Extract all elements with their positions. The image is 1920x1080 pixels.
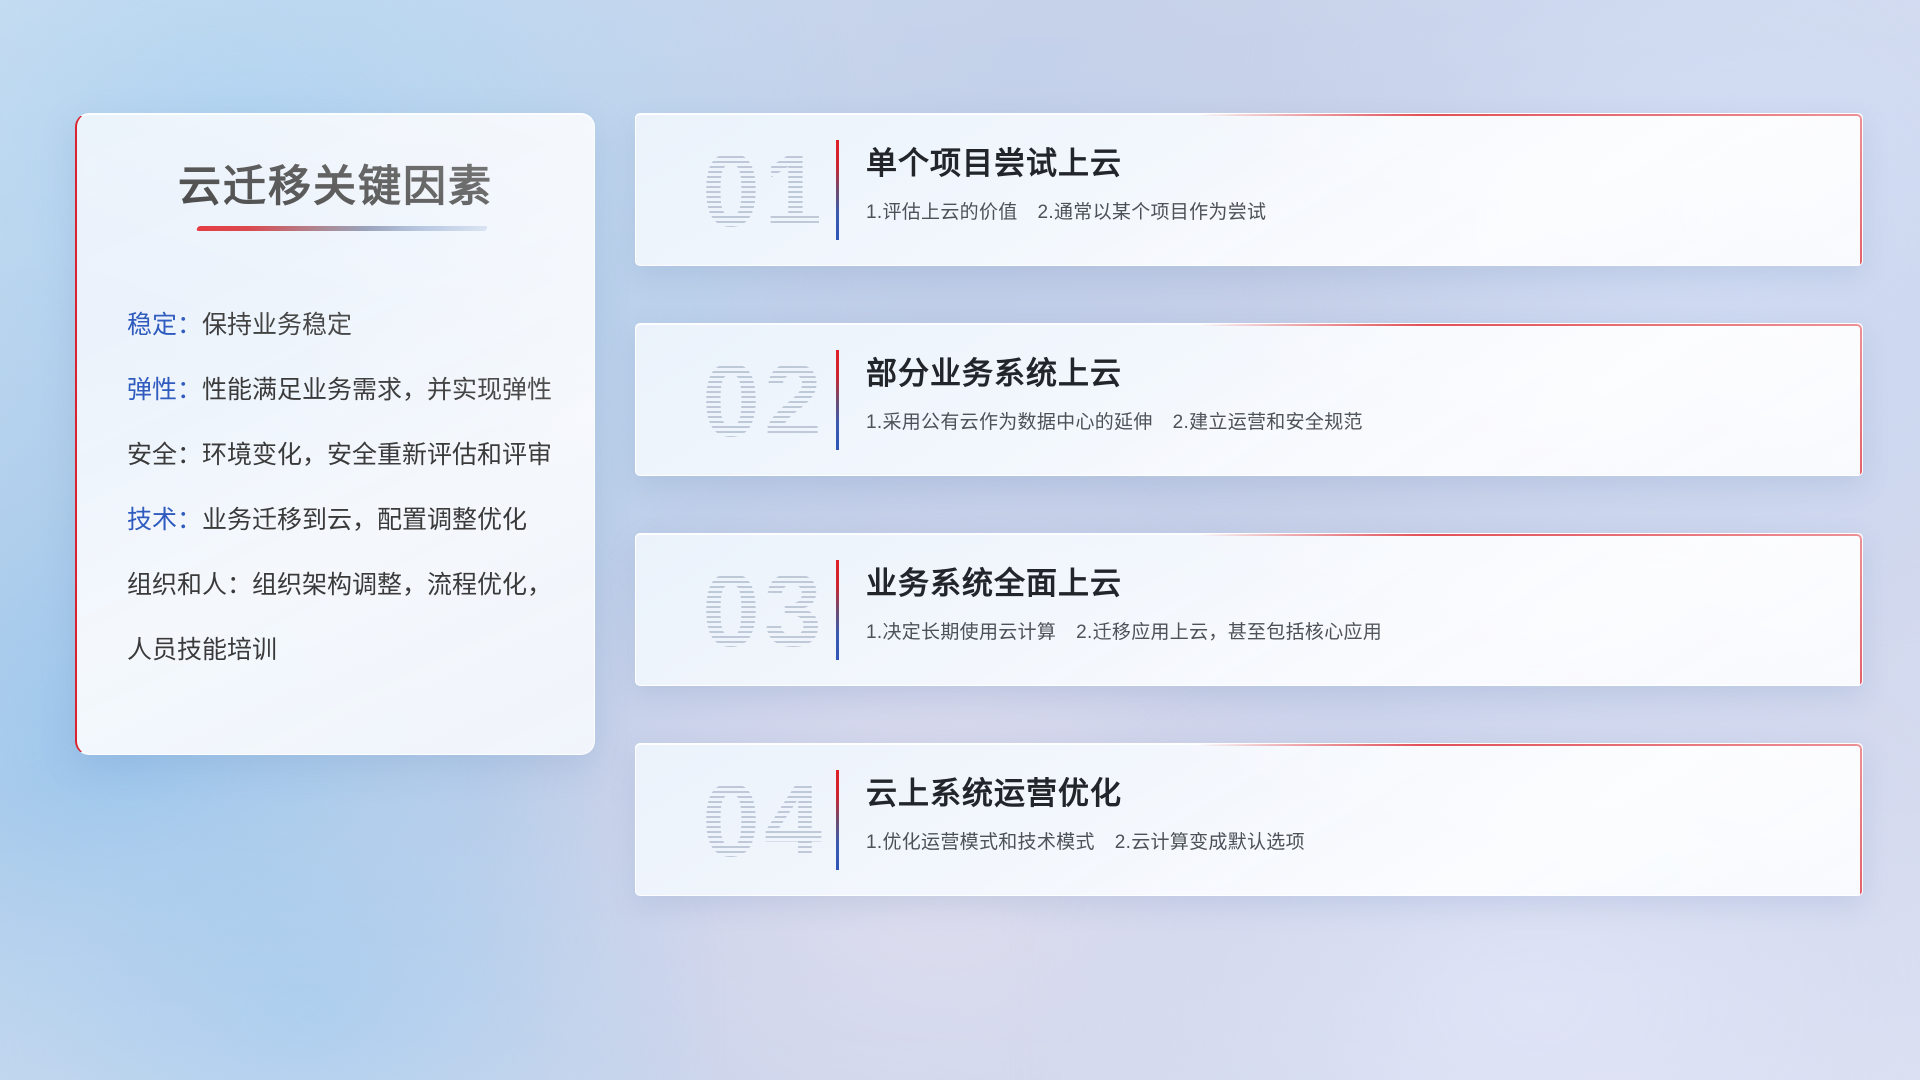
stage-card[interactable]: 01单个项目尝试上云1.评估上云的价值2.通常以某个项目作为尝试: [635, 113, 1863, 266]
stage-point-2: 2.建立运营和安全规范: [1173, 412, 1363, 433]
stage-card[interactable]: 04云上系统运营优化1.优化运营模式和技术模式2.云计算变成默认选项: [635, 743, 1863, 896]
key-factors-panel: 云迁移关键因素 稳定：保持业务稳定弹性：性能满足业务需求，并实现弹性安全：环境变…: [75, 113, 595, 755]
stage-title: 业务系统全面上云: [866, 558, 1832, 603]
stage-title: 部分业务系统上云: [866, 348, 1832, 393]
stage-divider-accent: [836, 560, 839, 660]
stage-number-watermark: 03: [664, 546, 864, 676]
stage-point-1: 1.决定长期使用云计算: [866, 622, 1056, 643]
factor-value: 业务迁移到云，配置调整优化: [202, 506, 527, 534]
factor-row: 组织和人：组织架构调整，流程优化，: [127, 569, 566, 601]
factor-row: 技术：业务迁移到云，配置调整优化: [127, 504, 566, 536]
migration-stage-list: 01单个项目尝试上云1.评估上云的价值2.通常以某个项目作为尝试02部分业务系统…: [635, 113, 1863, 953]
stage-divider-accent: [836, 350, 839, 450]
stage-title: 单个项目尝试上云: [866, 138, 1832, 183]
stage-point-2: 2.通常以某个项目作为尝试: [1038, 202, 1267, 223]
stage-point-2: 2.迁移应用上云，甚至包括核心应用: [1076, 622, 1382, 643]
factor-value: 环境变化，安全重新评估和评审: [202, 441, 552, 469]
factor-value: 保持业务稳定: [202, 311, 352, 339]
stage-subtitle: 1.决定长期使用云计算2.迁移应用上云，甚至包括核心应用: [866, 617, 1832, 644]
stage-subtitle: 1.优化运营模式和技术模式2.云计算变成默认选项: [866, 827, 1832, 854]
stage-number-watermark: 04: [664, 756, 864, 886]
stage-divider-accent: [836, 770, 839, 870]
factor-row: 稳定：保持业务稳定: [127, 309, 566, 341]
stage-number-watermark: 01: [664, 126, 864, 256]
stage-text-block: 业务系统全面上云1.决定长期使用云计算2.迁移应用上云，甚至包括核心应用: [866, 558, 1832, 644]
factor-key: 技术：: [127, 506, 202, 534]
factor-key: 安全：: [127, 441, 202, 469]
factor-value: 组织架构调整，流程优化，: [252, 571, 552, 599]
title-underline-accent: [196, 226, 488, 231]
stage-point-1: 1.采用公有云作为数据中心的延伸: [866, 412, 1153, 433]
panel-title: 云迁移关键因素: [77, 152, 594, 214]
stage-title: 云上系统运营优化: [866, 768, 1832, 813]
stage-card[interactable]: 03业务系统全面上云1.决定长期使用云计算2.迁移应用上云，甚至包括核心应用: [635, 533, 1863, 686]
stage-card[interactable]: 02部分业务系统上云1.采用公有云作为数据中心的延伸2.建立运营和安全规范: [635, 323, 1863, 476]
factor-key: 组织和人：: [127, 571, 252, 599]
factor-key: 弹性：: [127, 376, 202, 404]
factor-row: 弹性：性能满足业务需求，并实现弹性: [127, 374, 566, 406]
stage-point-2: 2.云计算变成默认选项: [1115, 832, 1305, 853]
factor-list: 稳定：保持业务稳定弹性：性能满足业务需求，并实现弹性安全：环境变化，安全重新评估…: [127, 309, 566, 699]
stage-subtitle: 1.评估上云的价值2.通常以某个项目作为尝试: [866, 197, 1832, 224]
stage-text-block: 部分业务系统上云1.采用公有云作为数据中心的延伸2.建立运营和安全规范: [866, 348, 1832, 434]
stage-text-block: 单个项目尝试上云1.评估上云的价值2.通常以某个项目作为尝试: [866, 138, 1832, 224]
factor-key: 稳定：: [127, 311, 202, 339]
factor-value: 人员技能培训: [127, 636, 277, 664]
stage-point-1: 1.评估上云的价值: [866, 202, 1018, 223]
factor-row: 安全：环境变化，安全重新评估和评审: [127, 439, 566, 471]
stage-divider-accent: [836, 140, 839, 240]
stage-subtitle: 1.采用公有云作为数据中心的延伸2.建立运营和安全规范: [866, 407, 1832, 434]
stage-number-watermark: 02: [664, 336, 864, 466]
factor-row: 人员技能培训: [127, 634, 566, 666]
stage-text-block: 云上系统运营优化1.优化运营模式和技术模式2.云计算变成默认选项: [866, 768, 1832, 854]
factor-value: 性能满足业务需求，并实现弹性: [202, 376, 552, 404]
stage-point-1: 1.优化运营模式和技术模式: [866, 832, 1095, 853]
